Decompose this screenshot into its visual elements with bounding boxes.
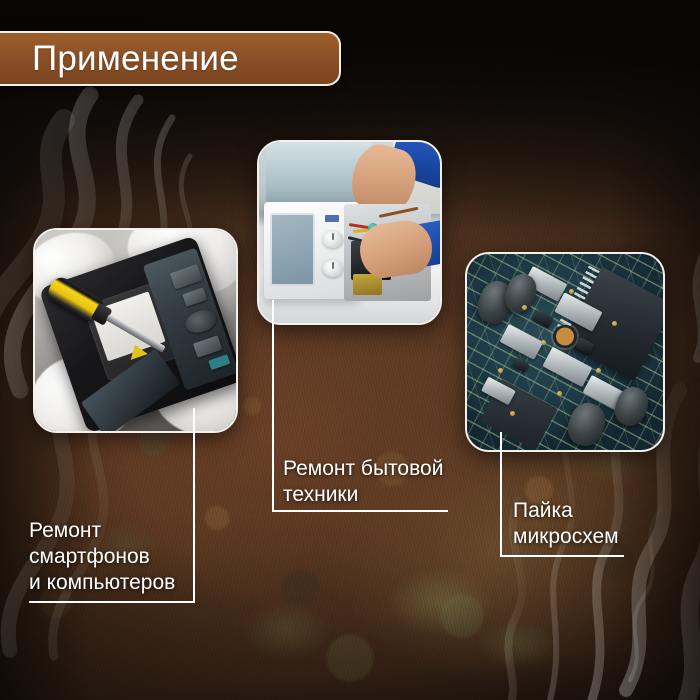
title-banner: Применение (0, 31, 341, 86)
connector-line-bottom-2 (272, 510, 448, 512)
connector-line-bottom-3 (500, 555, 624, 557)
photo-microwave-repair-image (259, 142, 440, 323)
page-title: Применение (32, 41, 239, 76)
photo-card-smartphone-repair[interactable] (33, 228, 238, 433)
photo-card-chip-soldering[interactable] (465, 252, 665, 452)
connector-line-vertical-3 (500, 432, 502, 556)
caption-appliance-repair: Ремонт бытовой техники (283, 456, 443, 508)
photo-card-appliance-repair[interactable] (257, 140, 442, 325)
caption-chip-soldering: Пайка микросхем (513, 498, 619, 550)
connector-line-vertical-1 (193, 408, 195, 603)
photo-circuit-board-image (467, 254, 663, 450)
promo-slide: Применение (0, 0, 700, 700)
connector-line-bottom-1 (29, 601, 195, 603)
caption-smartphone-repair: Ремонт смартфонов и компьютеров (29, 518, 175, 596)
photo-smartphone-repair-image (35, 230, 236, 431)
connector-line-vertical-2 (272, 300, 274, 512)
